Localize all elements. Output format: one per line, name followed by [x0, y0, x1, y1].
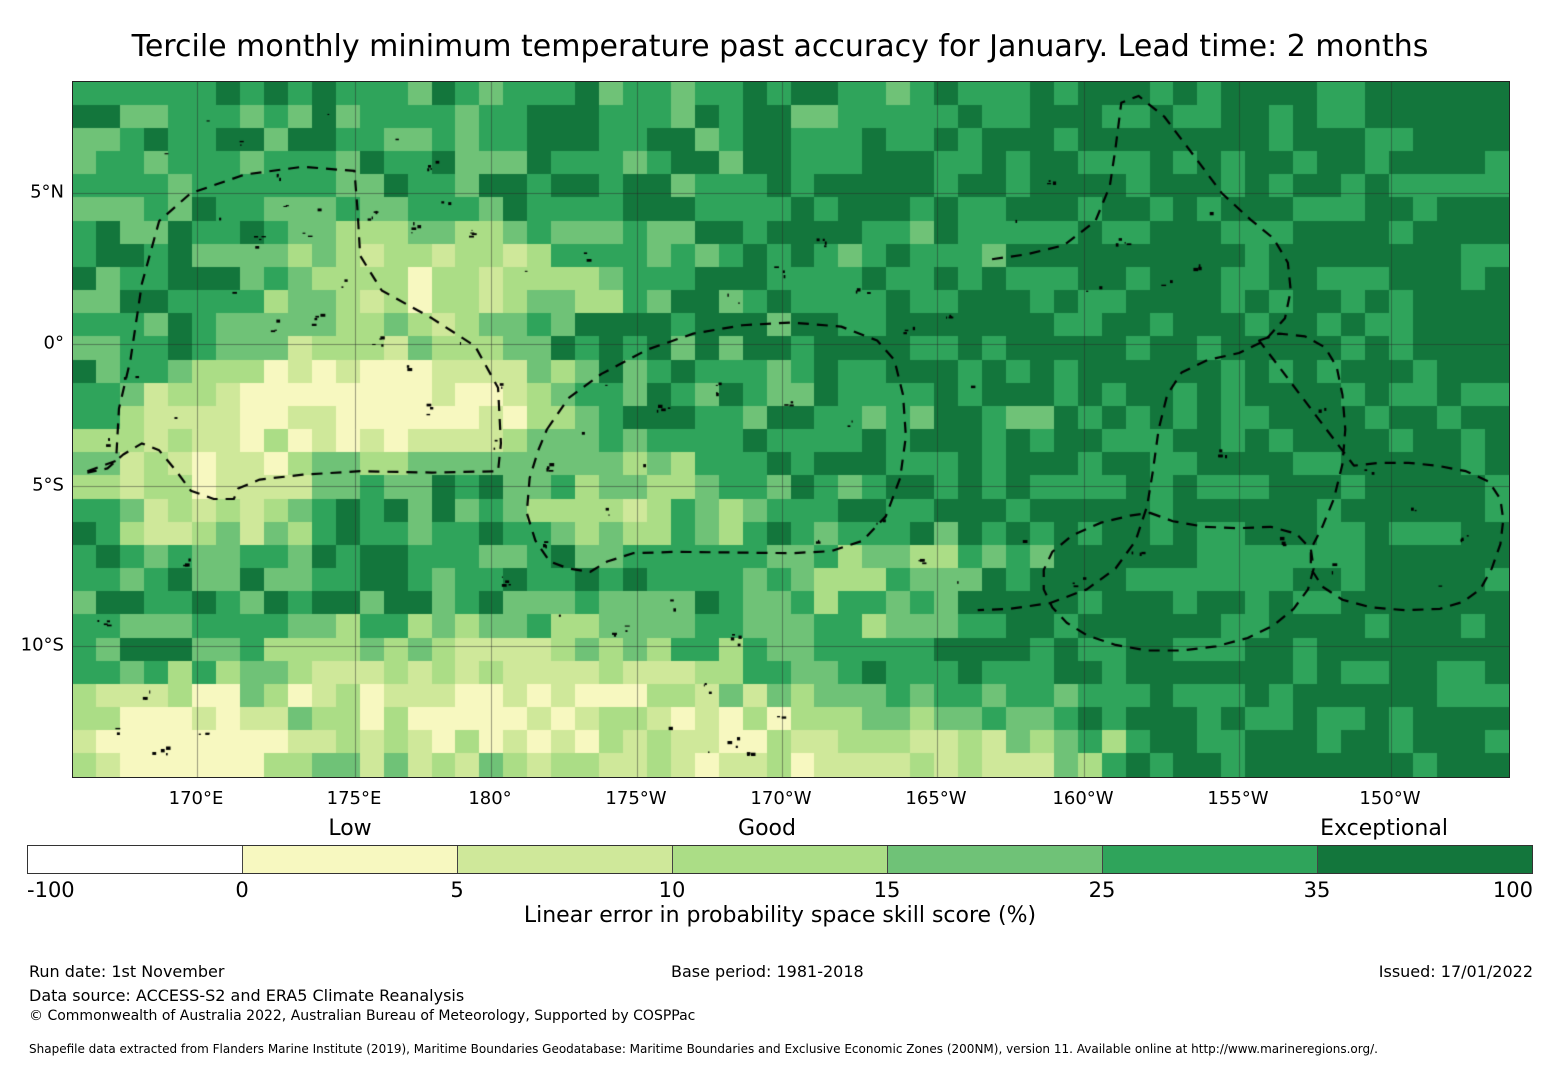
y-tick-label: 5°N: [30, 182, 64, 203]
y-tick-label: 10°S: [21, 635, 64, 656]
colorbar-tick-label: 5: [450, 878, 463, 902]
colorbar-tick-label: 25: [1089, 878, 1116, 902]
x-tick-label: 175°E: [327, 788, 382, 809]
eez-boundary-overlay: [73, 82, 1509, 777]
x-tick-label: 175°W: [605, 788, 666, 809]
footer-shapefile-credit: Shapefile data extracted from Flanders M…: [29, 1042, 1378, 1056]
x-tick-label: 150°W: [1359, 788, 1420, 809]
colorbar-tick-label: 35: [1304, 878, 1331, 902]
page-title: Tercile monthly minimum temperature past…: [0, 28, 1560, 66]
x-tick-label: 165°W: [905, 788, 966, 809]
colorbar-tick-label: -100: [27, 878, 75, 902]
x-tick-label: 180°: [468, 788, 511, 809]
colorbar-tick-label: 15: [874, 878, 901, 902]
colorbar[interactable]: [27, 845, 1533, 874]
footer-data-source: Data source: ACCESS-S2 and ERA5 Climate …: [29, 986, 464, 1005]
x-tick-label: 170°E: [169, 788, 224, 809]
colorbar-segment[interactable]: [28, 846, 243, 873]
colorbar-segment[interactable]: [888, 846, 1103, 873]
x-tick-label: 160°W: [1052, 788, 1113, 809]
footer-base-period: Base period: 1981-2018: [671, 962, 864, 981]
y-tick-label: 0°: [44, 333, 64, 354]
x-tick-label: 155°W: [1207, 788, 1268, 809]
map-plot-area[interactable]: [72, 81, 1510, 778]
footer: Run date: 1st November Base period: 1981…: [0, 958, 1560, 1063]
footer-run-date: Run date: 1st November: [29, 962, 224, 981]
y-tick-label: 5°S: [32, 475, 64, 496]
colorbar-segment[interactable]: [1103, 846, 1318, 873]
colorbar-category-good: Good: [738, 816, 796, 841]
colorbar-axis-label: Linear error in probability space skill …: [0, 903, 1560, 928]
colorbar-tick-label: 10: [659, 878, 686, 902]
footer-issued-date: Issued: 17/01/2022: [1379, 962, 1533, 981]
colorbar-segment[interactable]: [458, 846, 673, 873]
x-tick-label: 170°W: [750, 788, 811, 809]
colorbar-tick-label: 0: [235, 878, 248, 902]
colorbar-segment[interactable]: [1318, 846, 1532, 873]
colorbar-segment[interactable]: [243, 846, 458, 873]
colorbar-tick-label: 100: [1493, 878, 1533, 902]
colorbar-gradient[interactable]: [27, 845, 1533, 874]
colorbar-segment[interactable]: [673, 846, 888, 873]
colorbar-category-low: Low: [328, 816, 371, 841]
footer-copyright: © Commonwealth of Australia 2022, Austra…: [29, 1008, 695, 1024]
colorbar-category-exceptional: Exceptional: [1320, 816, 1448, 841]
